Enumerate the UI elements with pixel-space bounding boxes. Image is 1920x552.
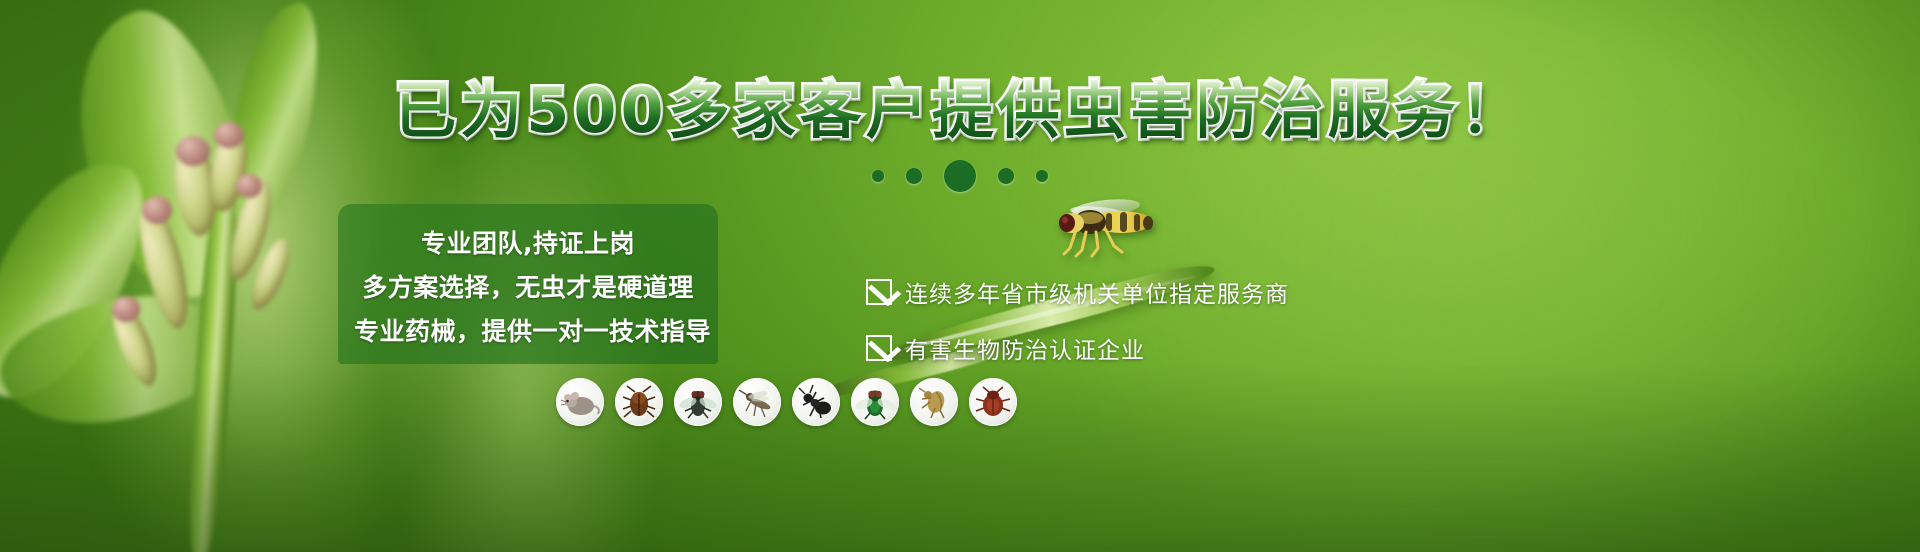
selling-point-1: 专业团队,持证上岗 [354, 224, 702, 260]
dot-small-right [1036, 170, 1048, 182]
checkbox-checked-icon [866, 279, 892, 305]
dot-medium-right [998, 168, 1014, 184]
credential-label-1: 连续多年省市级机关单位指定服务商 [905, 275, 1289, 309]
dot-large [944, 160, 976, 192]
checkbox-checked-icon [866, 335, 892, 361]
ant-icon[interactable] [792, 378, 840, 426]
credential-row-2: 有害生物防治认证企业 [866, 331, 1289, 365]
cockroach-icon[interactable] [615, 378, 663, 426]
bedbug-icon[interactable] [969, 378, 1017, 426]
dot-small-left [872, 170, 884, 182]
pest-icon-row [556, 378, 1017, 426]
credentials-list: 连续多年省市级机关单位指定服务商 有害生物防治认证企业 [866, 275, 1289, 365]
mosquito-icon[interactable] [733, 378, 781, 426]
dot-medium-left [906, 168, 922, 184]
credential-label-2: 有害生物防治认证企业 [905, 331, 1145, 365]
credential-row-1: 连续多年省市级机关单位指定服务商 [866, 275, 1289, 309]
pest-control-hero-banner: 已为500多家客户提供虫害防治服务！ 已为500多家客户提供虫害防治服务！ 专业… [0, 0, 1920, 552]
selling-point-3: 专业药械，提供一对一技术指导 [354, 312, 702, 348]
fly-icon[interactable] [674, 378, 722, 426]
selling-point-2: 多方案选择，无虫才是硬道理 [354, 268, 702, 304]
page-title: 已为500多家客户提供虫害防治服务！ [0, 80, 1920, 142]
flea-icon[interactable] [910, 378, 958, 426]
mouse-icon[interactable] [556, 378, 604, 426]
blowfly-icon[interactable] [851, 378, 899, 426]
selling-points-panel: 专业团队,持证上岗 多方案选择，无虫才是硬道理 专业药械，提供一对一技术指导 [338, 204, 718, 364]
decorative-dots [0, 160, 1920, 192]
